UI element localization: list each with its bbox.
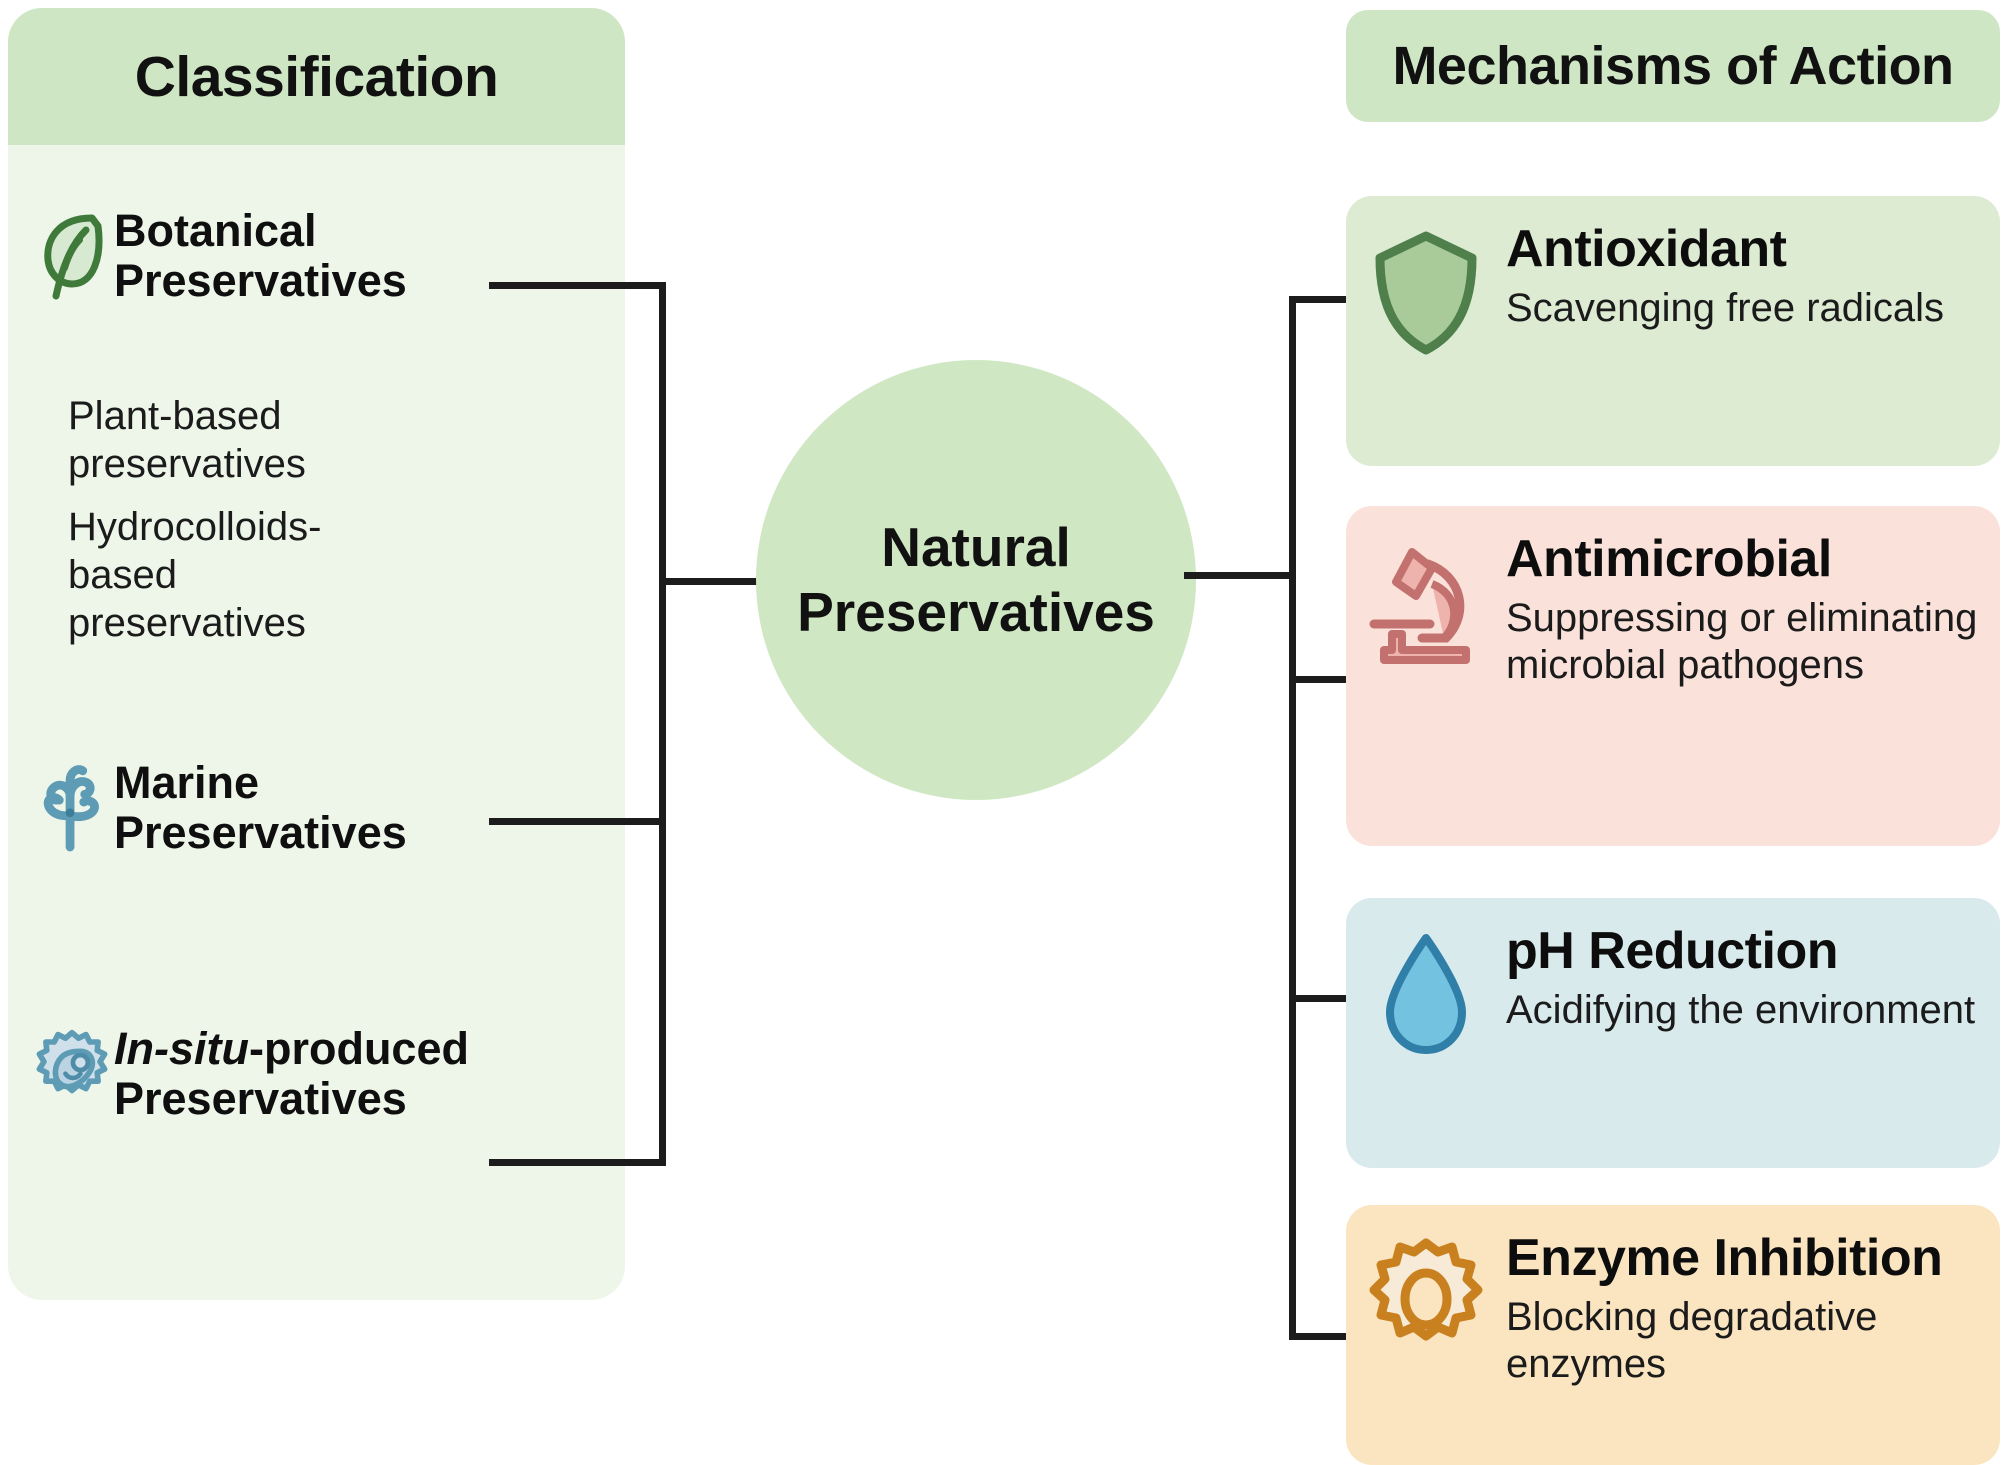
botanical-sub-1: Plant-based preservatives (68, 392, 568, 488)
left-bracket-top-branch (489, 282, 666, 289)
mechanism-card-body: pH Reduction Acidifying the environment (1506, 924, 2000, 1034)
mechanism-desc: Acidifying the environment (1506, 987, 1986, 1034)
classification-item-title: In-situ-produced Preservatives (114, 1022, 469, 1125)
classification-panel: Classification Botanical Preservatives P… (8, 8, 625, 1300)
title-line-2: Preservatives (114, 255, 407, 306)
right-branch-enzyme-inhibition (1289, 1333, 1353, 1340)
microscope-icon (1346, 532, 1506, 673)
sub-line: Hydrocolloids- (68, 503, 568, 551)
classification-item-title: Botanical Preservatives (114, 204, 407, 307)
sub-line: preservatives (68, 599, 568, 647)
mechanism-card-body: Antioxidant Scavenging free radicals (1506, 222, 2000, 332)
left-bracket-vertical (659, 282, 666, 1166)
center-node-natural-preservatives[interactable]: Natural Preservatives (756, 360, 1196, 800)
left-center-stub (659, 578, 769, 585)
classification-item-marine[interactable]: Marine Preservatives (30, 756, 610, 859)
mechanism-card-body: Antimicrobial Suppressing or eliminating… (1506, 532, 2000, 689)
mechanism-card-ph-reduction[interactable]: pH Reduction Acidifying the environment (1346, 898, 2000, 1168)
center-line-2: Preservatives (797, 581, 1155, 643)
mechanisms-header-label: Mechanisms of Action (1392, 35, 1953, 97)
classification-item-title: Marine Preservatives (114, 756, 407, 859)
title-italic-part: In-situ (114, 1023, 249, 1074)
mechanism-title: Enzyme Inhibition (1506, 1231, 1986, 1286)
classification-item-botanical[interactable]: Botanical Preservatives (30, 204, 610, 307)
title-line-1: Marine (114, 757, 259, 808)
title-rest-part: -produced (249, 1023, 469, 1074)
right-center-stub (1184, 572, 1296, 579)
mechanism-desc: Scavenging free radicals (1506, 285, 1986, 332)
mechanisms-header: Mechanisms of Action (1346, 10, 2000, 122)
right-branch-ph-reduction (1289, 995, 1353, 1002)
mechanism-title: Antioxidant (1506, 222, 1986, 277)
left-bracket-bottom-branch (489, 1159, 666, 1166)
sub-line: Plant-based (68, 392, 568, 440)
title-line-1: Botanical (114, 205, 317, 256)
center-node-label: Natural Preservatives (797, 515, 1155, 645)
gear-icon (1346, 1231, 1506, 1362)
center-line-1: Natural (881, 516, 1071, 578)
leaf-icon (30, 204, 114, 300)
water-drop-icon (1346, 924, 1506, 1060)
mechanism-card-enzyme-inhibition[interactable]: Enzyme Inhibition Blocking degradative e… (1346, 1205, 2000, 1465)
sub-line: based (68, 551, 568, 599)
mechanism-desc: Blocking degradative enzymes (1506, 1294, 1986, 1388)
classification-header-label: Classification (135, 44, 499, 110)
classification-item-insitu[interactable]: In-situ-produced Preservatives (30, 1022, 610, 1125)
right-bracket-vertical (1289, 296, 1296, 1340)
sub-line: preservatives (68, 440, 568, 488)
title-line-2: Preservatives (114, 1073, 407, 1124)
mechanism-title: Antimicrobial (1506, 532, 1986, 587)
microbe-gear-icon (30, 1022, 114, 1118)
right-branch-antioxidant (1289, 296, 1353, 303)
botanical-sub-2: Hydrocolloids- based preservatives (68, 503, 568, 647)
mechanism-desc: Suppressing or eliminating microbial pat… (1506, 595, 1986, 689)
mechanism-card-antioxidant[interactable]: Antioxidant Scavenging free radicals (1346, 196, 2000, 466)
title-line-2: Preservatives (114, 807, 407, 858)
right-branch-antimicrobial (1289, 676, 1353, 683)
shield-icon (1346, 222, 1506, 358)
mechanism-card-antimicrobial[interactable]: Antimicrobial Suppressing or eliminating… (1346, 506, 2000, 846)
coral-icon (30, 756, 114, 852)
left-bracket-mid-branch (489, 818, 666, 825)
classification-header: Classification (8, 8, 625, 145)
diagram-canvas: Classification Botanical Preservatives P… (0, 0, 2008, 1430)
mechanism-title: pH Reduction (1506, 924, 1986, 979)
mechanism-card-body: Enzyme Inhibition Blocking degradative e… (1506, 1231, 2000, 1388)
